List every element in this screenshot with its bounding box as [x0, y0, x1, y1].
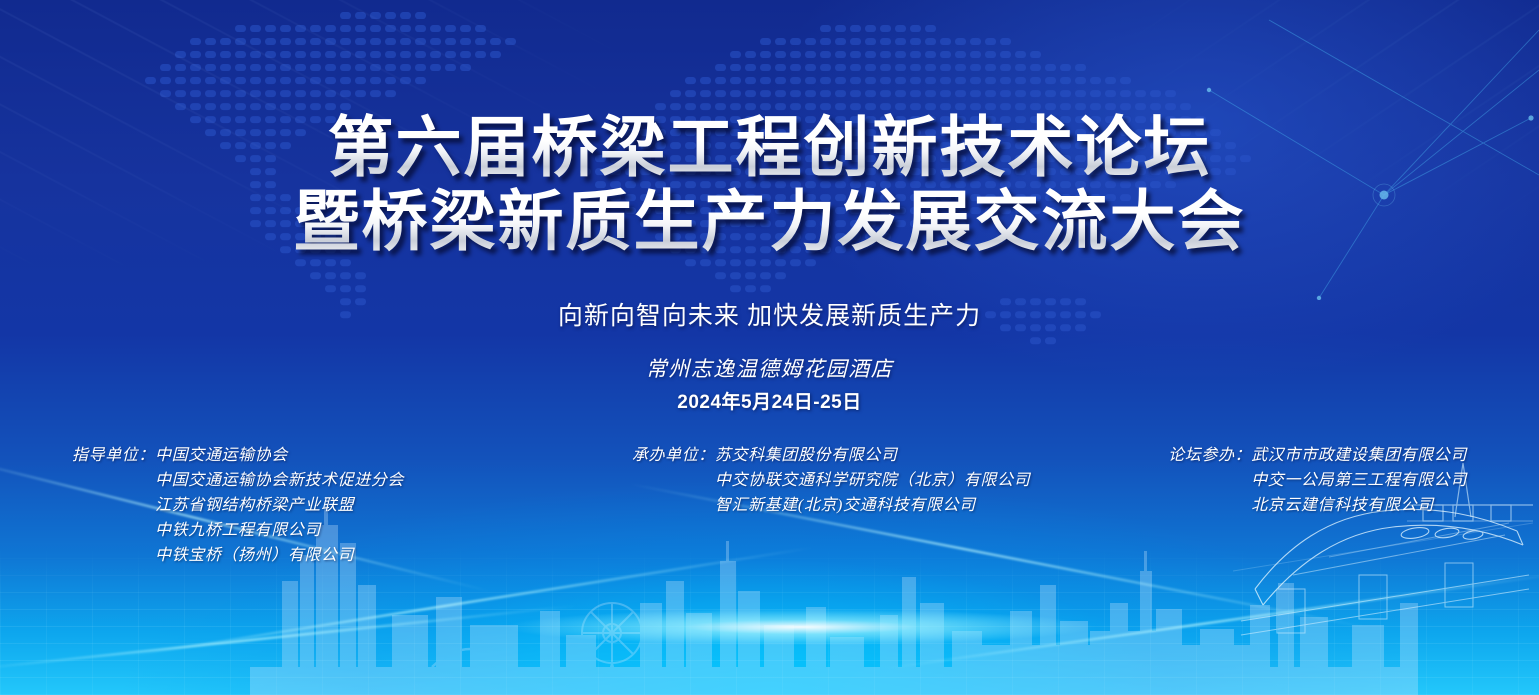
organizer-row: 支持单位：江苏省钢结构桥梁产业联盟	[72, 493, 404, 518]
organizer-value: 江苏省钢结构桥梁产业联盟	[155, 493, 354, 518]
organizer-value: 武汉市市政建设集团有限公司	[1251, 443, 1467, 468]
organizer-value: 中国交通运输协会新技术促进分会	[155, 468, 404, 493]
organizer-row: 论坛参办：武汉市市政建设集团有限公司	[1168, 443, 1467, 468]
organizer-columns: 指导单位：中国交通运输协会主办单位：中国交通运输协会新技术促进分会支持单位：江苏…	[0, 443, 1539, 568]
venue-name: 常州志逸温德姆花园酒店	[0, 353, 1539, 383]
organizer-value: 北京云建信科技有限公司	[1251, 493, 1434, 518]
conference-banner: 第六届桥梁工程创新技术论坛 暨桥梁新质生产力发展交流大会 向新向智向未来 加快发…	[0, 0, 1539, 695]
organizer-value: 中铁九桥工程有限公司	[155, 518, 321, 543]
organizer-label: 论坛参办：	[1168, 443, 1251, 468]
organizer-value: 智汇新基建(北京)交通科技有限公司	[715, 493, 976, 518]
organizer-row: 承办单位：苏交科集团股份有限公司	[632, 443, 1030, 468]
organizer-row: 指导单位：中国交通运输协会	[72, 443, 404, 468]
banner-title: 第六届桥梁工程创新技术论坛 暨桥梁新质生产力发展交流大会	[0, 112, 1539, 260]
organizer-value: 苏交科集团股份有限公司	[715, 443, 898, 468]
organizer-row: 论坛承办：中铁九桥工程有限公司	[72, 518, 404, 543]
organizer-value: 中交协联交通科学研究院（北京）有限公司	[715, 468, 1030, 493]
organizer-value: 中交一公局第三工程有限公司	[1251, 468, 1467, 493]
organizer-label: 承办单位：	[632, 443, 715, 468]
organizer-column-left: 指导单位：中国交通运输协会主办单位：中国交通运输协会新技术促进分会支持单位：江苏…	[72, 443, 404, 568]
organizer-row: 论坛协办：中铁宝桥（扬州）有限公司	[72, 543, 404, 568]
organizer-value: 中铁宝桥（扬州）有限公司	[155, 543, 354, 568]
organizer-value: 中国交通运输协会	[155, 443, 288, 468]
organizer-row: 承办单位：中交协联交通科学研究院（北京）有限公司	[632, 468, 1030, 493]
venue-date: 2024年5月24日-25日	[0, 387, 1539, 414]
organizer-row: 主办单位：中国交通运输协会新技术促进分会	[72, 468, 404, 493]
organizer-row: 论坛参办：中交一公局第三工程有限公司	[1168, 468, 1467, 493]
title-line-2: 暨桥梁新质生产力发展交流大会	[0, 186, 1539, 260]
organizer-row: 论坛参办：北京云建信科技有限公司	[1168, 493, 1467, 518]
organizer-column-center: 承办单位：苏交科集团股份有限公司承办单位：中交协联交通科学研究院（北京）有限公司…	[632, 443, 1030, 568]
title-line-1: 第六届桥梁工程创新技术论坛	[0, 112, 1539, 186]
organizer-label: 指导单位：	[72, 443, 155, 468]
organizer-column-right: 论坛参办：武汉市市政建设集团有限公司论坛参办：中交一公局第三工程有限公司论坛参办…	[1168, 443, 1467, 568]
banner-subtitle: 向新向智向未来 加快发展新质生产力	[0, 296, 1539, 332]
organizer-row: 承办单位：智汇新基建(北京)交通科技有限公司	[632, 493, 1030, 518]
venue-block: 常州志逸温德姆花园酒店 2024年5月24日-25日	[0, 353, 1539, 414]
banner-content: 第六届桥梁工程创新技术论坛 暨桥梁新质生产力发展交流大会 向新向智向未来 加快发…	[0, 0, 1539, 695]
